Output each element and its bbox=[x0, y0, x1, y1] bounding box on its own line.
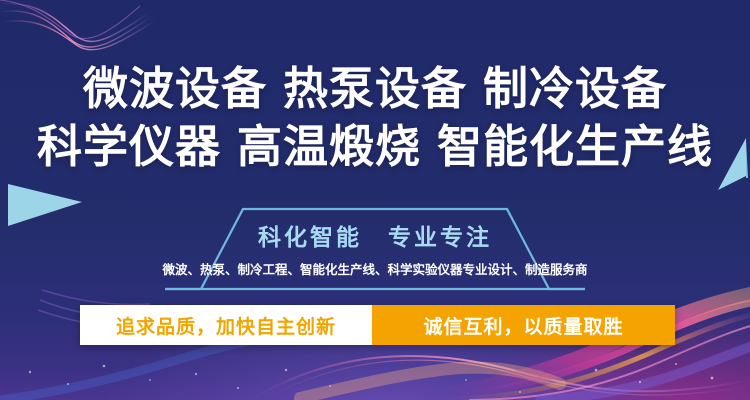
slogan-left[interactable]: 追求品质，加快自主创新 bbox=[80, 305, 372, 345]
headline-block: 微波设备热泵设备制冷设备 科学仪器高温煅烧智能化生产线 bbox=[0, 60, 750, 176]
headline-line-1: 微波设备热泵设备制冷设备 bbox=[0, 60, 750, 118]
headline-item-2: 热泵设备 bbox=[283, 63, 467, 114]
slogan-bar: 追求品质，加快自主创新 诚信互利，以质量取胜 bbox=[80, 305, 675, 345]
mid-title-right: 专业专注 bbox=[388, 224, 492, 250]
mid-panel-subtitle: 微波、热泵、制冷工程、智能化生产线、科学实验仪器专业设计、制造服务商 bbox=[155, 262, 595, 278]
headline-item-4: 科学仪器 bbox=[37, 121, 221, 172]
headline-item-3: 制冷设备 bbox=[483, 63, 667, 114]
headline-item-6: 智能化生产线 bbox=[437, 121, 713, 172]
headline-item-5: 高温煅烧 bbox=[237, 121, 421, 172]
mid-panel-title: 科化智能专业专注 bbox=[165, 222, 585, 252]
slogan-right[interactable]: 诚信互利，以质量取胜 bbox=[372, 305, 675, 345]
promo-banner: 微波设备热泵设备制冷设备 科学仪器高温煅烧智能化生产线 科化智能专业专注 微波、… bbox=[0, 0, 750, 400]
headline-line-2: 科学仪器高温煅烧智能化生产线 bbox=[0, 118, 750, 176]
mid-title-left: 科化智能 bbox=[258, 224, 362, 250]
headline-item-1: 微波设备 bbox=[83, 63, 267, 114]
